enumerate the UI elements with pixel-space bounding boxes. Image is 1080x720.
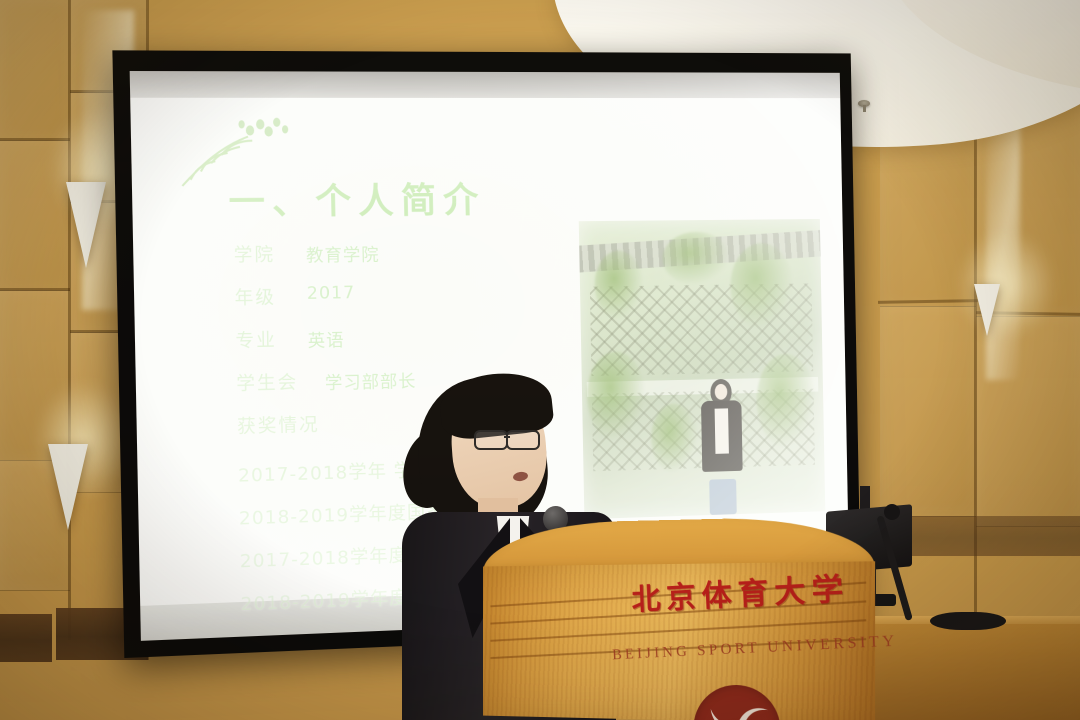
slide-field-value: 2017 xyxy=(307,283,356,304)
university-logo xyxy=(694,684,781,720)
slide-field-label: 学院 xyxy=(233,240,275,267)
glasses-bridge xyxy=(504,436,510,438)
slide-awards-heading: 获奖情况 xyxy=(237,410,320,439)
wall-band xyxy=(0,614,52,662)
photo-person-shirt xyxy=(714,408,728,454)
gooseneck-microphone-base xyxy=(930,612,1006,630)
slide-field-label: 学生会 xyxy=(236,368,298,396)
bsu-swirl-icon xyxy=(694,684,781,720)
wall-seam xyxy=(68,0,71,640)
ceiling-sprinkler-icon xyxy=(858,100,870,107)
slide-field-value: 英语 xyxy=(307,326,344,352)
lectern: 北京体育大学 BEIJING SPORT UNIVERSITY xyxy=(483,515,875,720)
wall-seam xyxy=(974,80,977,640)
slide-title: 一、个人简介 xyxy=(228,172,486,225)
glasses-icon xyxy=(506,430,540,450)
wall-sconce-icon xyxy=(48,444,88,530)
lectern-front: 北京体育大学 BEIJING SPORT UNIVERSITY xyxy=(483,561,875,720)
glasses-icon xyxy=(474,430,508,450)
wall-sconce-icon xyxy=(974,284,1000,336)
slide-field-value: 教育学院 xyxy=(306,240,380,266)
slide-field-label: 专业 xyxy=(235,326,277,353)
photo-vine xyxy=(662,232,731,286)
wall-panel xyxy=(0,0,70,140)
wall-sconce-icon xyxy=(66,182,106,268)
wall-seam xyxy=(0,288,70,291)
slide-field-label: 年级 xyxy=(234,283,276,310)
gooseneck-microphone-head-icon xyxy=(884,504,900,520)
photo-person xyxy=(689,378,754,515)
sconce-glow xyxy=(956,230,1056,340)
photo-scene: 一、个人简介 学院 教育学院 年级 2017 专业 英语 学生会 学习部部长 获… xyxy=(0,0,1080,720)
wall-panel xyxy=(880,306,976,516)
photo-person-jeans xyxy=(709,479,737,515)
photo-vine xyxy=(594,250,644,320)
